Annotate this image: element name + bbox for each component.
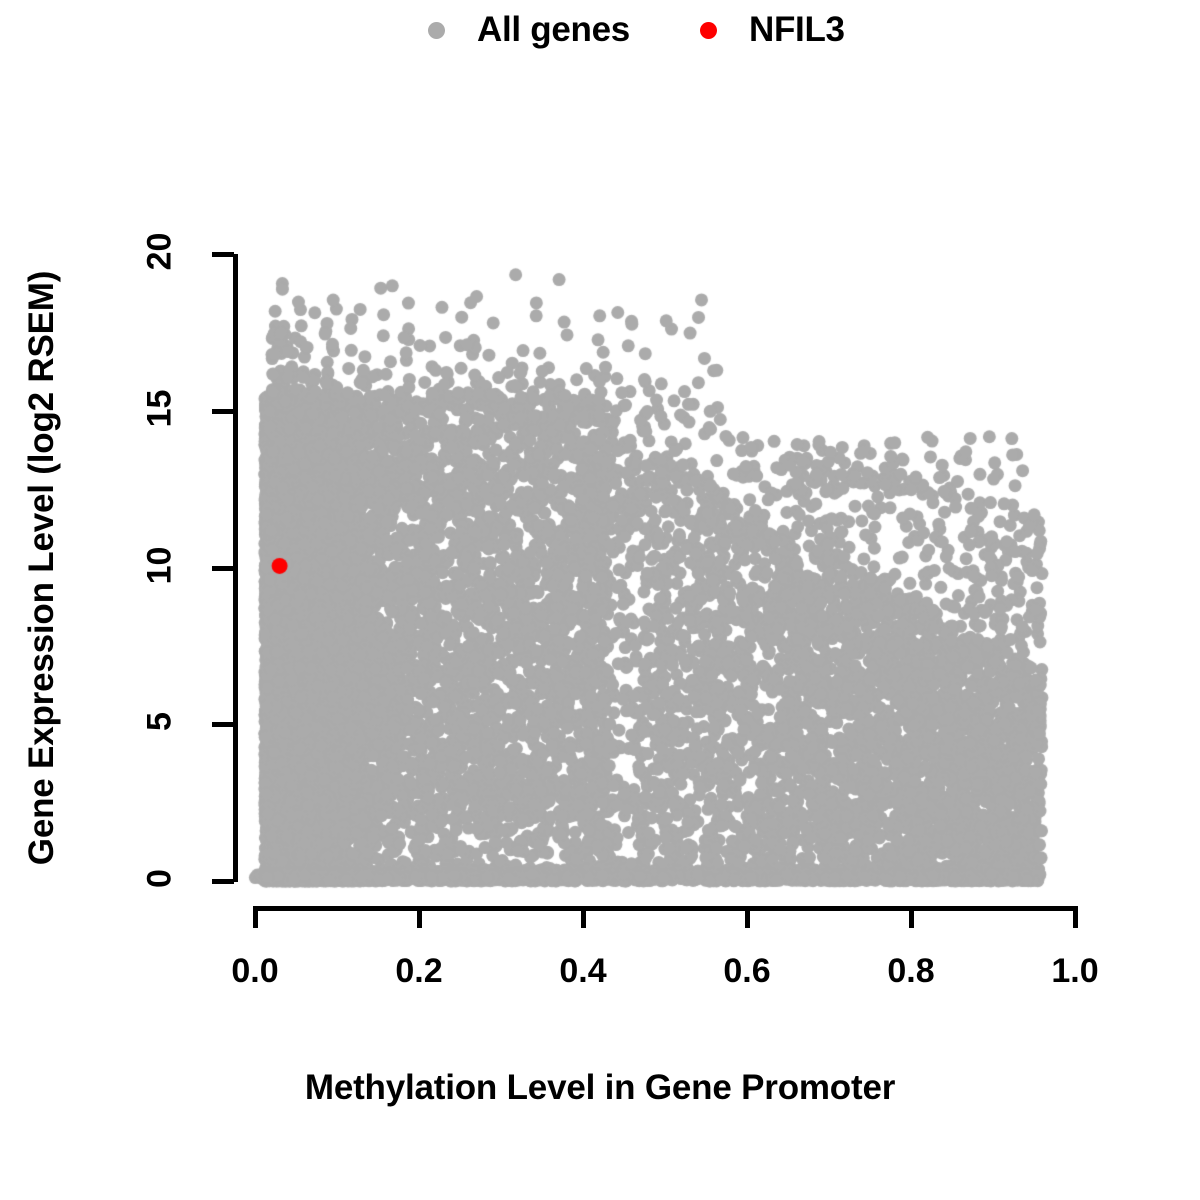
y-axis-tick: [212, 566, 234, 571]
chart-legend: All genes NFIL3: [0, 0, 1200, 60]
y-axis-tick-label: 0: [141, 819, 180, 939]
y-axis-tick-label: 20: [141, 192, 180, 312]
x-axis-tick: [253, 906, 258, 928]
y-axis-title-wrapper: Gene Expression Level (log2 RSEM): [22, 128, 82, 1008]
x-axis-tick-label: 0.4: [523, 952, 643, 991]
y-axis-tick-label: 10: [141, 505, 180, 625]
y-axis-tick-label: 15: [141, 348, 180, 468]
legend-entry-nfil3: NFIL3: [700, 0, 845, 60]
y-axis-tick: [212, 252, 234, 257]
x-axis-tick-label: 0.8: [851, 952, 971, 991]
x-axis-tick-label: 1.0: [1015, 952, 1135, 991]
y-axis-tick: [212, 879, 234, 884]
x-axis-tick: [745, 906, 750, 928]
legend-label-all-genes: All genes: [477, 10, 630, 50]
y-axis-tick: [212, 409, 234, 414]
scatter-plot-figure: All genes NFIL3 05101520 0.00.20.40.60.8…: [0, 0, 1200, 1200]
x-axis-tick: [909, 906, 914, 928]
y-axis-tick: [212, 722, 234, 727]
red-dot-icon: [700, 22, 717, 39]
x-axis-tick-label: 0.2: [359, 952, 479, 991]
x-axis-tick-label: 0.0: [195, 952, 315, 991]
y-axis-title: Gene Expression Level (log2 RSEM): [22, 128, 62, 1008]
scatter-plot-canvas: [0, 0, 1200, 1200]
x-axis-tick: [417, 906, 422, 928]
gray-dot-icon: [428, 22, 445, 39]
x-axis-tick-label: 0.6: [687, 952, 807, 991]
x-axis-line: [255, 906, 1077, 911]
y-axis-tick-label: 5: [141, 662, 180, 782]
x-axis-title: Methylation Level in Gene Promoter: [0, 1068, 1200, 1108]
x-axis-tick: [581, 906, 586, 928]
x-axis-tick: [1073, 906, 1078, 928]
legend-entry-all-genes: All genes: [428, 0, 630, 60]
legend-label-nfil3: NFIL3: [749, 10, 845, 50]
